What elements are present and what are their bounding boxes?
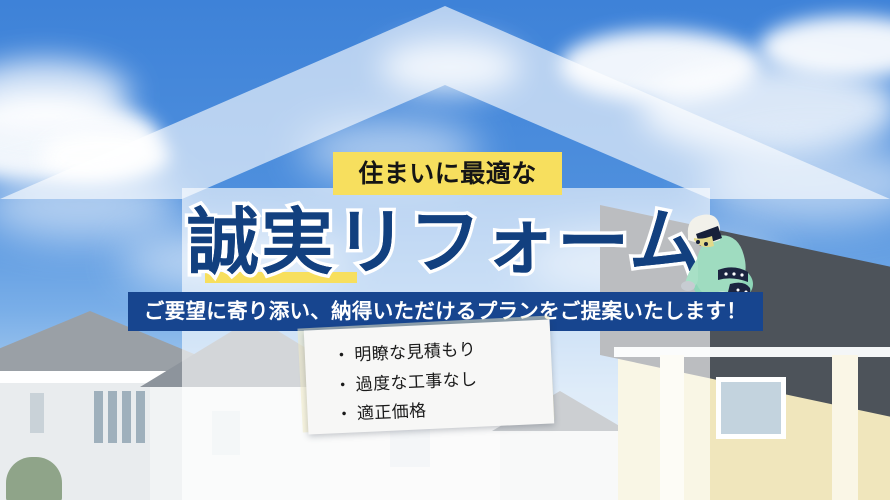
construction-worker-icon: [668, 206, 754, 304]
features-paper-card: ・明瞭な見積もり ・過度な工事なし ・適正価格: [304, 319, 554, 434]
house-pillar: [660, 355, 684, 500]
reform-hero-banner: 住まいに最適な 誠実リフォーム 誠実リフォーム ご要望に寄り添い、納得いただける…: [0, 0, 890, 500]
feature-label: 適正価格: [357, 401, 427, 424]
subtitle-text: ご要望に寄り添い、納得いただけるプランをご提案いたします！: [144, 301, 747, 322]
bullet-icon: ・: [334, 371, 353, 401]
headline-area: 誠実リフォーム 誠実リフォーム: [0, 198, 890, 290]
bullet-icon: ・: [335, 401, 354, 431]
house-window: [390, 427, 430, 467]
tagline-badge: 住まいに最適な: [333, 152, 562, 195]
features-list: ・明瞭な見積もり ・過度な工事なし ・適正価格: [304, 328, 554, 432]
shrub: [6, 457, 62, 500]
house-window: [716, 377, 786, 439]
tagline-badge-label: 住まいに最適な: [358, 161, 537, 186]
house-window: [94, 391, 103, 443]
bullet-icon: ・: [332, 342, 351, 372]
house-window: [30, 393, 44, 433]
house-wall: [500, 429, 620, 500]
house-window: [108, 391, 117, 443]
house-window: [136, 391, 145, 443]
page-title: 誠実リフォーム: [0, 198, 890, 286]
feature-label: 明瞭な見積もり: [354, 340, 477, 366]
house-window: [212, 411, 240, 455]
house-pillar: [832, 355, 858, 500]
cloud-icon: [380, 40, 520, 94]
feature-label: 過度な工事なし: [355, 369, 478, 395]
house-window: [122, 391, 131, 443]
